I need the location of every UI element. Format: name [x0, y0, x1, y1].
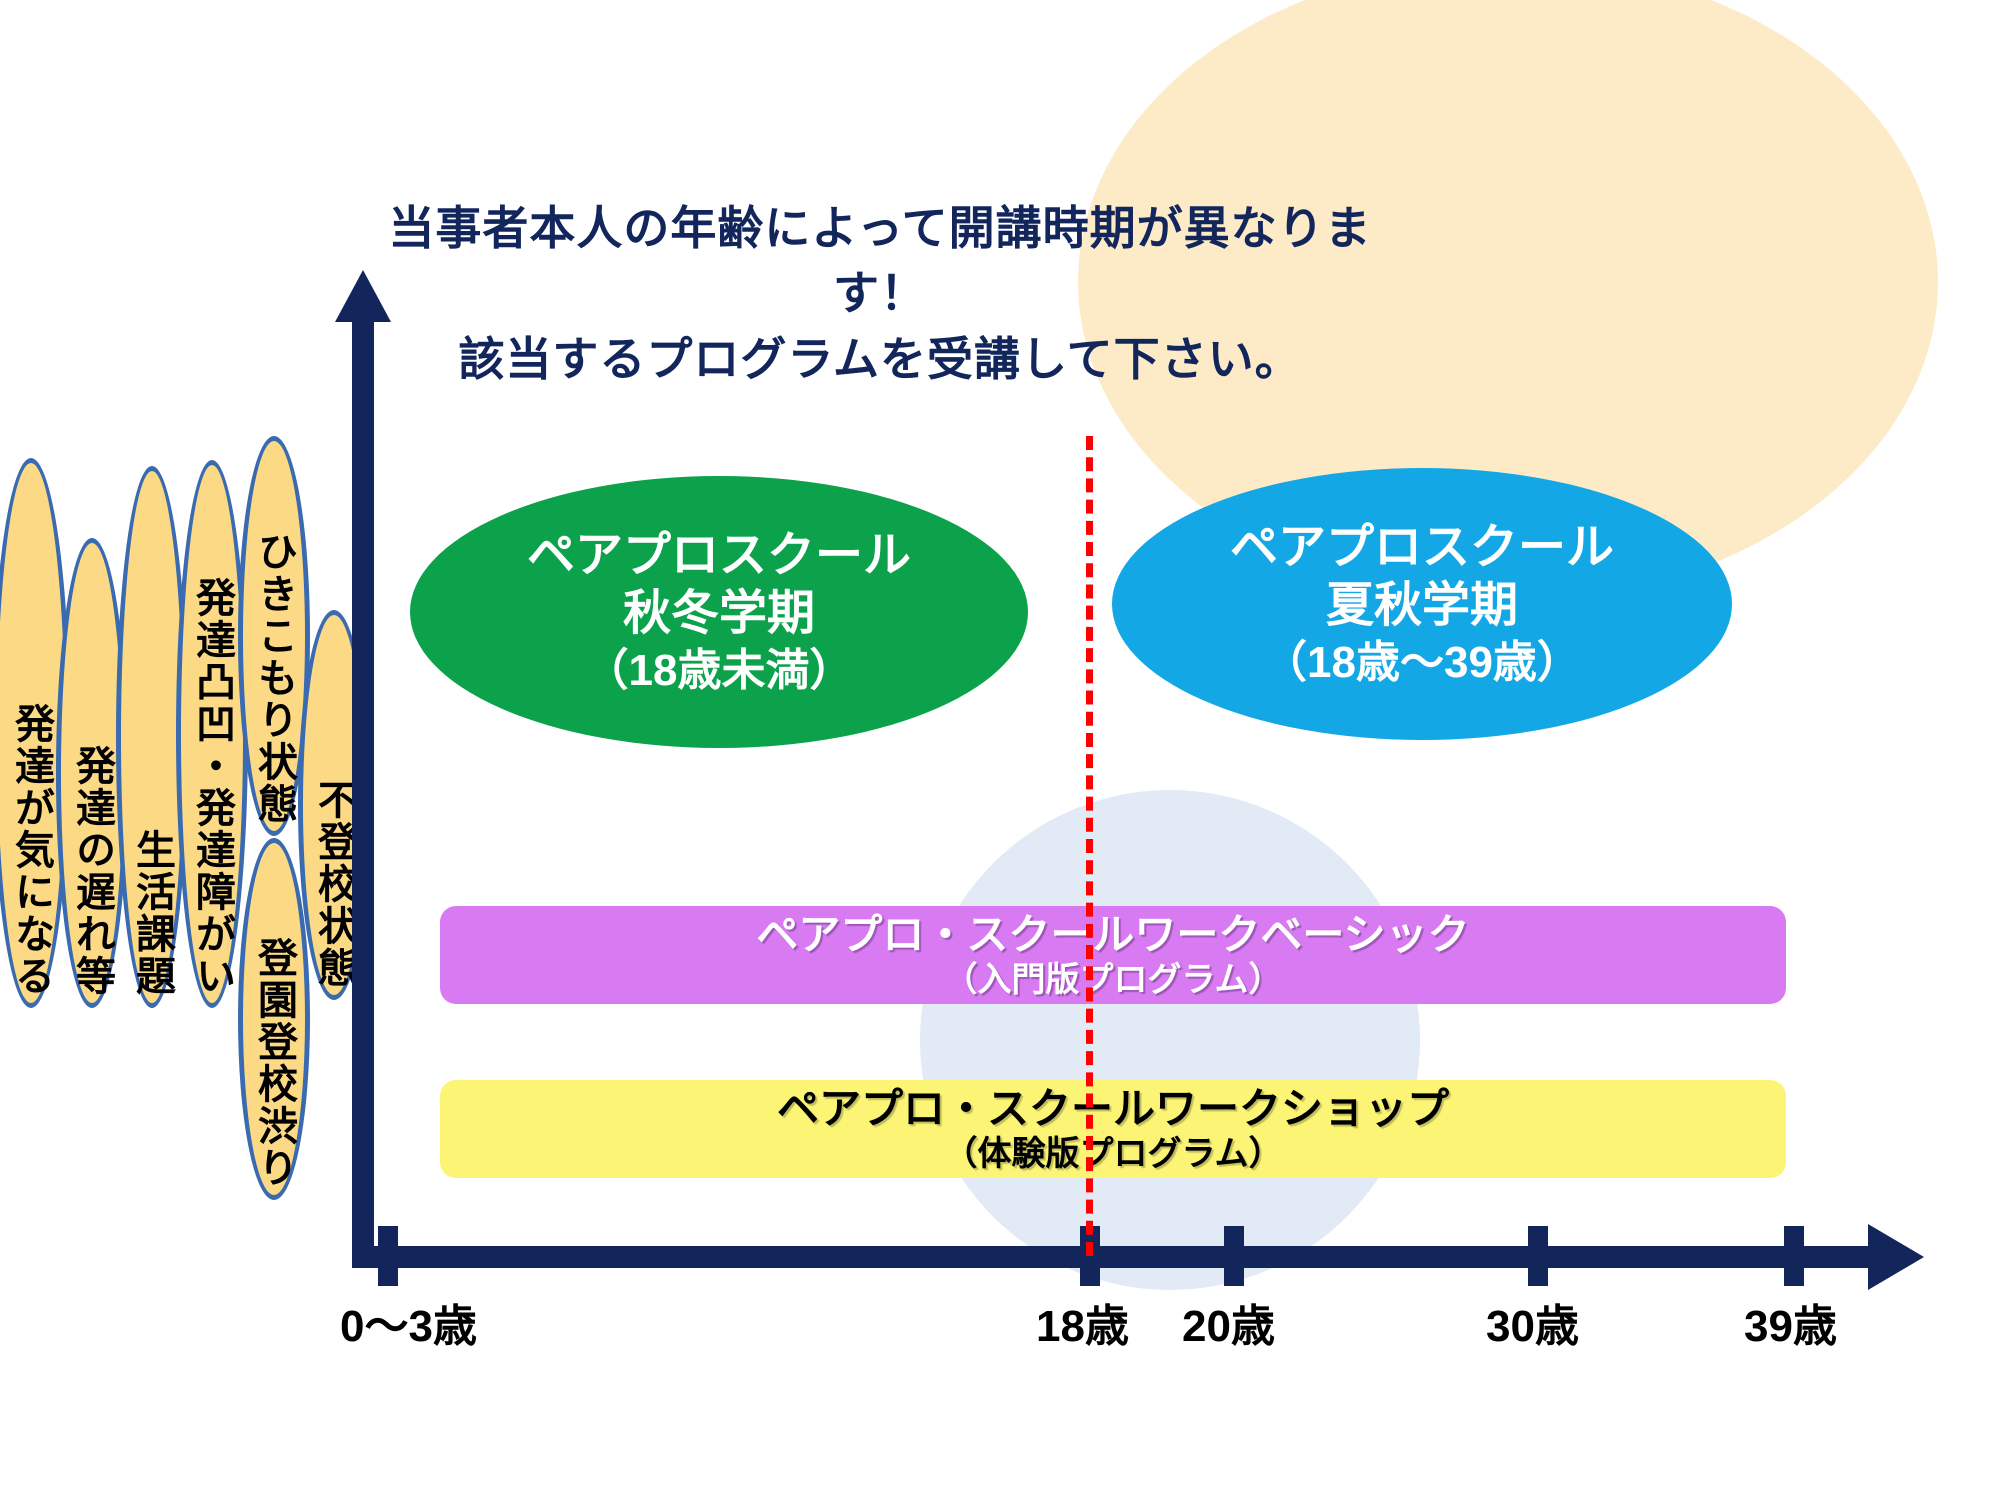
infographic-canvas: 当事者本人の年齢によって開講時期が異なります！ 該当するプログラムを受講して下さ… — [0, 0, 2000, 1500]
program-ellipse-summer-autumn[interactable]: ペアプロスクール 夏秋学期 （18歳〜39歳） — [1112, 468, 1732, 740]
blue-background-blob — [920, 790, 1420, 1290]
axis-tick-label-18: 18歳 — [1036, 1290, 1129, 1354]
program-yellow-line1: ペアプロ・スクールワークショップ — [777, 1084, 1449, 1134]
concern-label-2: 発達の遅れ等 — [72, 745, 112, 1003]
horizontal-axis-arrow-icon — [1868, 1224, 1924, 1290]
program-green-line2: 秋冬学期 — [623, 585, 815, 644]
program-purple-line1: ペアプロ・スクールワークベーシック — [756, 910, 1469, 960]
program-blue-line2: 夏秋学期 — [1326, 577, 1518, 636]
concern-label-5: ひきこもり状態 — [254, 531, 294, 831]
program-green-line3: （18歳未満） — [585, 644, 854, 698]
concern-leaf-6: 登園登校渋り — [238, 838, 310, 1200]
concern-label-1: 発達が気になる — [11, 703, 51, 1003]
concern-label-7: 不登校状態 — [314, 779, 354, 995]
concern-leaf-4: 発達凸凹・発達障がい — [176, 460, 248, 1008]
program-bar-basic[interactable]: ペアプロ・スクールワークベーシック （入門版プログラム） — [440, 906, 1786, 1004]
page-title: 当事者本人の年齢によって開講時期が異なります！ 該当するプログラムを受講して下さ… — [380, 196, 1380, 392]
axis-tick-0 — [378, 1226, 398, 1286]
axis-tick-label-20: 20歳 — [1182, 1290, 1275, 1354]
axis-tick-39 — [1784, 1226, 1804, 1286]
program-green-line1: ペアプロスクール — [527, 527, 911, 586]
axis-tick-label-0: 0〜3歳 — [340, 1290, 477, 1354]
concern-label-6: 登園登校渋り — [254, 937, 294, 1195]
concern-label-4: 発達凸凹・発達障がい — [192, 577, 232, 1003]
horizontal-axis — [352, 1246, 1892, 1268]
axis-tick-label-30: 30歳 — [1486, 1290, 1579, 1354]
program-blue-line1: ペアプロスクール — [1230, 519, 1614, 578]
program-ellipse-autumn-winter[interactable]: ペアプロスクール 秋冬学期 （18歳未満） — [410, 476, 1028, 748]
program-blue-line3: （18歳〜39歳） — [1263, 636, 1581, 690]
program-yellow-line2: （体験版プログラム） — [944, 1134, 1283, 1174]
program-purple-line2: （入門版プログラム） — [944, 960, 1283, 1000]
axis-tick-label-39: 39歳 — [1744, 1290, 1837, 1354]
axis-tick-20 — [1224, 1226, 1244, 1286]
axis-tick-30 — [1528, 1226, 1548, 1286]
vertical-axis — [352, 300, 374, 1268]
age-18-divider — [1086, 436, 1093, 1256]
program-bar-workshop[interactable]: ペアプロ・スクールワークショップ （体験版プログラム） — [440, 1080, 1786, 1178]
concern-label-3: 生活課題 — [132, 829, 172, 1003]
